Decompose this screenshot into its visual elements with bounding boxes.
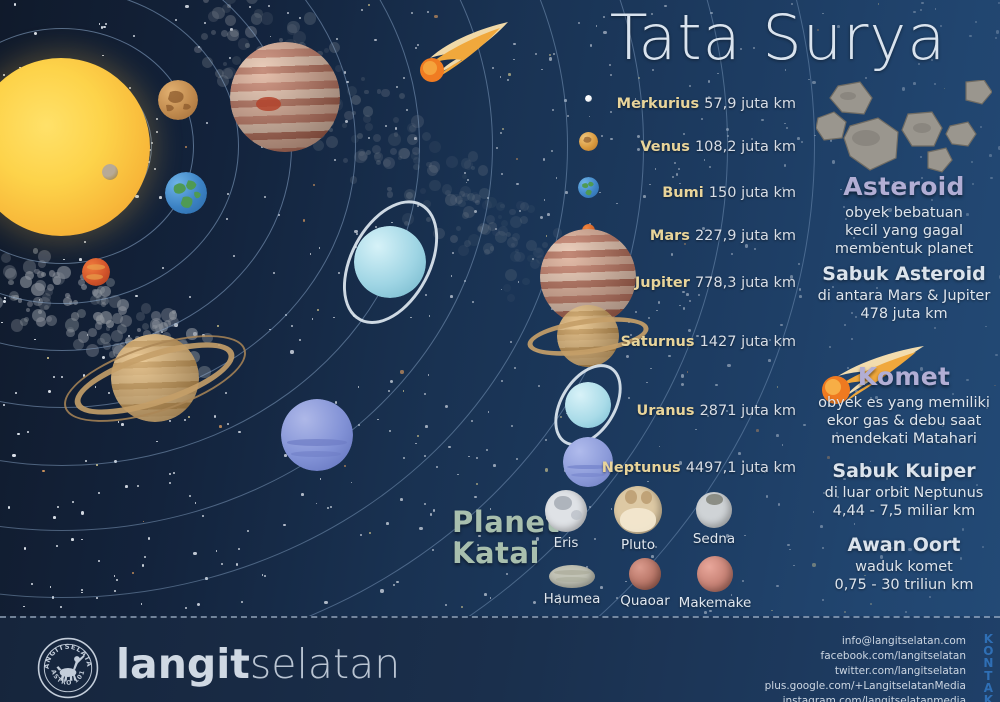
dwarf-planet-label: Quaoar bbox=[605, 593, 685, 609]
dwarf-planet-pluto: Pluto bbox=[598, 486, 678, 553]
brand-bold: langit bbox=[116, 640, 250, 688]
dwarf-planet-sedna: Sedna bbox=[674, 492, 754, 547]
dwarf-planet-label: Eris bbox=[526, 535, 606, 551]
dwarf-planet-disc bbox=[614, 486, 662, 534]
langitselatan-logo-icon: LANGITSELATAN ASTRO 101 bbox=[36, 636, 100, 700]
contact-facebook[interactable]: facebook.com/langitselatan bbox=[765, 649, 966, 664]
dwarf-planet-disc bbox=[696, 492, 732, 528]
dwarf-planet-list: Eris Pluto Sedna Haumea Quaoar Makemak bbox=[0, 0, 1000, 702]
dwarf-planet-haumea: Haumea bbox=[532, 565, 612, 607]
kontak-letter: K bbox=[983, 694, 994, 702]
svg-text:LANGITSELATAN: LANGITSELATAN bbox=[36, 636, 93, 669]
dwarf-planet-eris: Eris bbox=[526, 490, 606, 551]
solar-system-infographic: Tata Surya Merkurius 57,9 juta km Venus … bbox=[0, 0, 1000, 702]
dwarf-planet-disc bbox=[545, 490, 587, 532]
dwarf-planet-disc bbox=[629, 558, 661, 590]
brand-light: selatan bbox=[250, 640, 400, 688]
dwarf-planet-disc bbox=[697, 556, 733, 592]
dwarf-planet-quaoar: Quaoar bbox=[605, 558, 685, 609]
dwarf-planet-label: Makemake bbox=[675, 595, 755, 611]
footer: LANGITSELATAN ASTRO 101 langitselatan in… bbox=[0, 616, 1000, 702]
kontak-letter: N bbox=[983, 657, 994, 669]
dwarf-planet-label: Pluto bbox=[598, 537, 678, 553]
dwarf-planet-disc bbox=[549, 565, 595, 588]
brand-wordmark: langitselatan bbox=[116, 644, 400, 685]
dwarf-planet-label: Haumea bbox=[532, 591, 612, 607]
dwarf-planet-label: Sedna bbox=[674, 531, 754, 547]
logo-outer-text: LANGITSELATAN bbox=[36, 636, 93, 669]
dwarf-planet-makemake: Makemake bbox=[675, 556, 755, 611]
contact-twitter[interactable]: twitter.com/langitselatan bbox=[765, 664, 966, 679]
contact-googleplus[interactable]: plus.google.com/+LangitselatanMedia bbox=[765, 679, 966, 694]
contact-list: info@langitselatan.com facebook.com/lang… bbox=[765, 634, 966, 702]
contact-instagram[interactable]: instagram.com/langitselatanmedia bbox=[765, 694, 966, 702]
kontak-vertical-label: KONTAK bbox=[983, 633, 994, 702]
contact-email[interactable]: info@langitselatan.com bbox=[765, 634, 966, 649]
